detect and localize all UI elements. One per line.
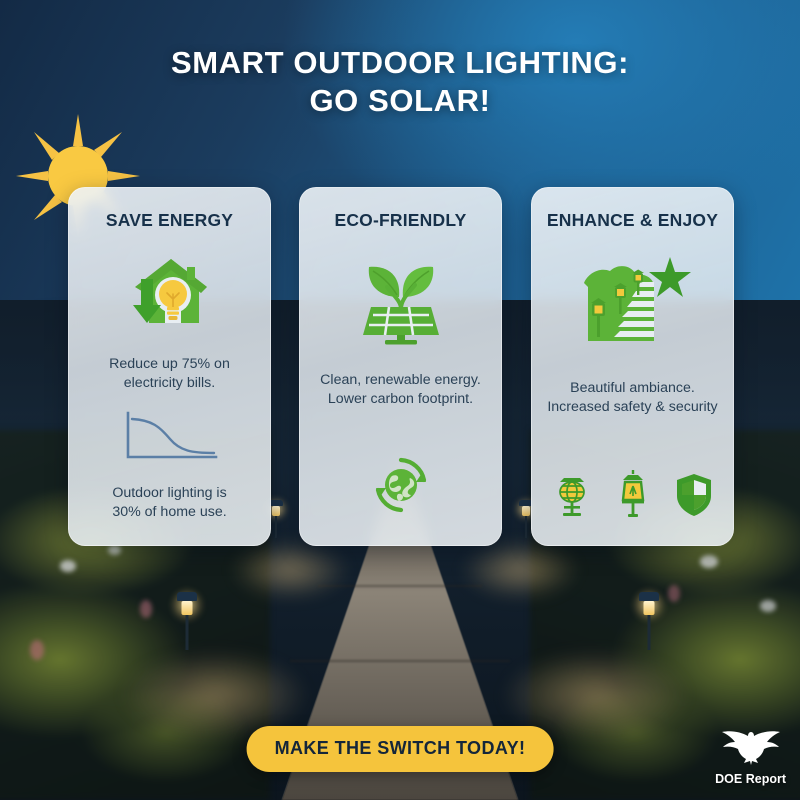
card-primary-text: Beautiful ambiance. Increased safety & s…: [537, 379, 727, 417]
background-flower: [700, 555, 718, 568]
card-title: ENHANCE & ENJOY: [547, 210, 718, 231]
background-flower: [60, 560, 76, 572]
eagle-icon: [719, 753, 783, 770]
card-secondary-text-line-1: Outdoor lighting is: [112, 484, 226, 503]
card-primary-text: Clean, renewable energy. Lower carbon fo…: [310, 371, 491, 409]
background-flower: [668, 585, 680, 602]
page-title: SMART OUTDOOR LIGHTING: GO SOLAR!: [0, 44, 800, 120]
lantern-post-icon: [616, 468, 650, 523]
lamp-light-pool: [460, 540, 580, 600]
card-title: SAVE ENERGY: [106, 210, 233, 231]
card-eco-friendly[interactable]: ECO-FRIENDLY: [299, 187, 502, 546]
background-flower: [140, 600, 152, 618]
title-line-2: GO SOLAR!: [0, 82, 800, 120]
card-secondary-text-line-2: 30% of home use.: [112, 503, 226, 522]
walkway-seam: [290, 660, 510, 662]
house-with-lightbulb-and-down-arrow-icon: [127, 253, 213, 329]
card-primary-text-line-1: Beautiful ambiance.: [547, 379, 717, 398]
plant-on-solar-panel-icon: [357, 253, 445, 345]
benefit-cards-row: SAVE ENERGY: [0, 187, 800, 547]
brand-name: DOE Report: [715, 772, 786, 786]
card-footer-icons: [532, 468, 733, 523]
card-title: ECO-FRIENDLY: [334, 210, 466, 231]
background-flower: [760, 600, 776, 612]
card-primary-text-line-2: Lower carbon footprint.: [320, 390, 481, 409]
card-footer-icons: [300, 454, 501, 521]
make-the-switch-cta-button[interactable]: MAKE THE SWITCH TODAY!: [247, 726, 554, 772]
recycling-globe-icon: [370, 454, 432, 521]
walkway-seam: [318, 585, 482, 587]
title-line-1: SMART OUTDOOR LIGHTING:: [0, 44, 800, 82]
card-primary-text-line-1: Clean, renewable energy.: [320, 371, 481, 390]
solar-path-lamp: [176, 592, 198, 650]
card-enhance-and-enjoy[interactable]: ENHANCE & ENJOY: [531, 187, 734, 546]
card-primary-text-line-2: electricity bills.: [109, 374, 230, 393]
card-save-energy[interactable]: SAVE ENERGY: [68, 187, 271, 546]
globe-lamp-icon: [552, 472, 592, 523]
declining-line-chart-icon: [118, 411, 222, 470]
brand-logo: DOE Report: [715, 726, 786, 786]
security-shield-icon: [674, 472, 714, 523]
background-flower: [30, 640, 44, 660]
card-secondary-text: Outdoor lighting is 30% of home use.: [102, 484, 236, 522]
card-primary-text: Reduce up 75% on electricity bills.: [99, 355, 240, 393]
card-primary-text-line-2: Increased safety & security: [547, 398, 717, 417]
card-primary-text-line-1: Reduce up 75% on: [109, 355, 230, 374]
lit-pathway-with-star-icon: [574, 253, 692, 353]
infographic-canvas: SMART OUTDOOR LIGHTING: GO SOLAR! SAVE E…: [0, 0, 800, 800]
solar-path-lamp: [638, 592, 660, 650]
lamp-light-pool: [230, 540, 350, 600]
